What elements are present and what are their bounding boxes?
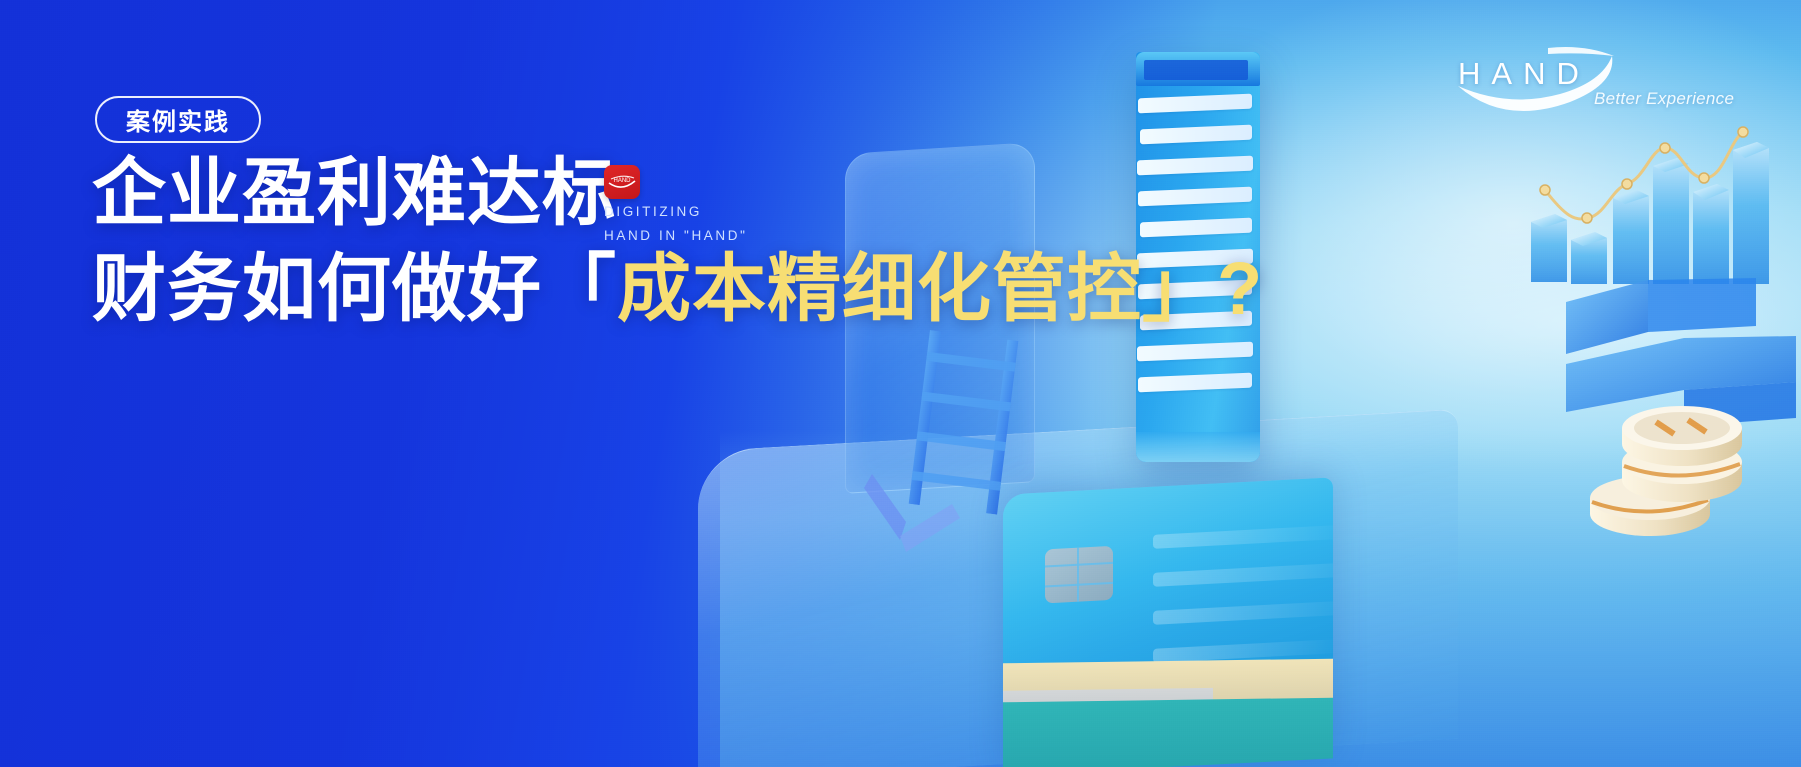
headline-line-2-prefix: 财务如何做好「 (92, 247, 617, 330)
hand-red-logo-icon: HAND (604, 165, 640, 199)
digitizing-line-2: HAND IN "HAND" (604, 226, 748, 247)
headline-line-2-highlight: 成本精细化管控 (617, 247, 1142, 330)
category-badge-label: 案例实践 (126, 102, 230, 137)
digitizing-line-1: DIGITIZING (604, 202, 748, 223)
headline-line-2-suffix: 」? (1142, 247, 1263, 330)
marketing-banner: 案例实践 企业盈利难达标 财务如何做好「成本精细化管控」? HAND DIGIT… (0, 0, 1801, 767)
digitizing-lockup: HAND DIGITIZING HAND IN "HAND" (604, 165, 748, 247)
category-badge: 案例实践 (95, 96, 261, 143)
brand-tagline: Better Experience (1594, 89, 1734, 109)
svg-text:HAND: HAND (613, 178, 631, 184)
headline-line-2: 财务如何做好「成本精细化管控」? (92, 252, 1263, 326)
brand-wordmark: HAND (1458, 56, 1590, 92)
hand-swoosh-icon: HAND (608, 174, 636, 191)
